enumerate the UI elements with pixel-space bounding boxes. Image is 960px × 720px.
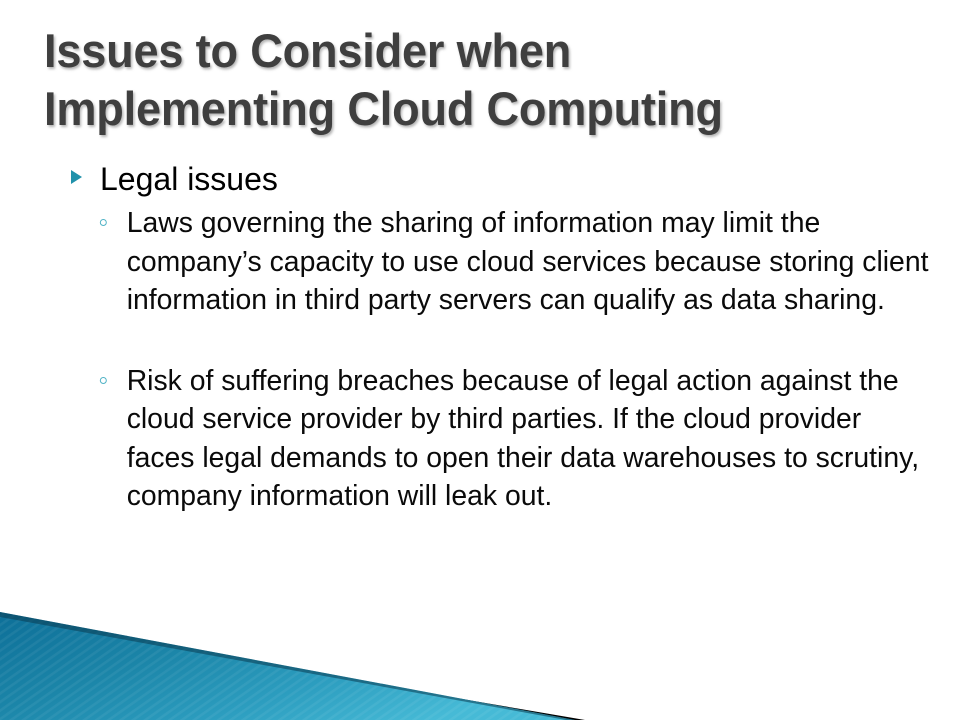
teal-band-edge	[0, 612, 575, 720]
pale-diagonal-band	[0, 631, 582, 720]
black-diagonal-band	[0, 620, 585, 720]
list-item-level1-label: Legal issues	[100, 161, 278, 197]
list-item-level2: Risk of suffering breaches because of le…	[68, 362, 934, 516]
list-item-level1: Legal issues	[68, 158, 938, 200]
teal-diagonal-band	[0, 612, 575, 720]
page-title: Issues to Consider when Implementing Clo…	[44, 22, 924, 138]
page-title-line-1: Issues to Consider when	[44, 22, 889, 80]
circle-bullet-icon	[100, 377, 107, 384]
triangle-bullet-icon	[71, 170, 82, 184]
list-item-level2: Laws governing the sharing of informatio…	[68, 204, 934, 320]
page-title-line-2: Implementing Cloud Computing	[44, 80, 889, 138]
slide-body: Legal issues Laws governing the sharing …	[68, 158, 938, 516]
teal-band-texture	[0, 612, 575, 720]
bottom-left-decoration	[0, 598, 700, 720]
circle-bullet-icon	[100, 219, 107, 226]
list-item-level2-label: Laws governing the sharing of informatio…	[127, 207, 929, 316]
list-item-level2-label: Risk of suffering breaches because of le…	[127, 365, 919, 513]
slide-canvas: Issues to Consider when Implementing Clo…	[0, 0, 960, 720]
paragraph-spacer	[68, 320, 938, 358]
